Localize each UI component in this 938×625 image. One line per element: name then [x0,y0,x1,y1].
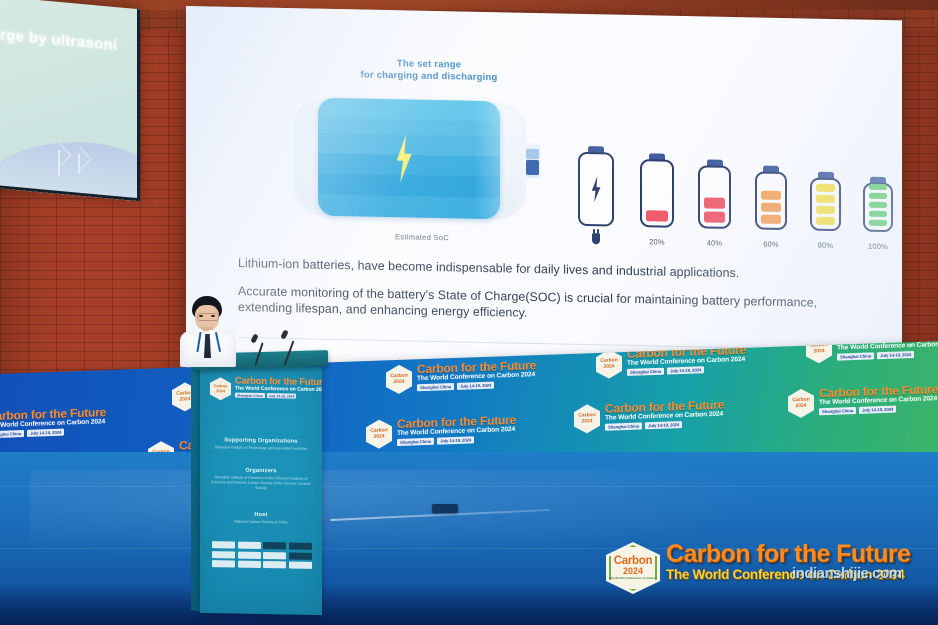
eye [211,315,215,317]
podium-section-supporting: Supporting Organizations Shanghai Instit… [200,437,322,452]
photo-scene: harge by ultrasoni The set range for cha… [0,0,938,625]
battery-segment [869,202,887,208]
logo-text: Carbon 2024 [369,422,389,446]
battery-segment [816,206,835,214]
charging-bolt-icon [590,176,603,202]
left-screen-title: harge by ultrasoni [0,25,140,58]
banner-chip-location: Shanghai China [417,383,454,391]
ceiling-band [0,0,938,10]
floor-seam [0,486,938,487]
carbon-logo-icon: Carbon 2024 [596,349,622,379]
banner-chip-location: Shanghai China [819,407,856,415]
carbon-hex-logo-icon: Carbon 2024 The World Conference on Carb… [606,542,660,594]
banner-chip-date: July 14-19, 2024 [437,436,474,444]
battery-body [810,178,841,232]
sponsor-logo [263,561,286,568]
watermark-logo: Carbon 2024 The World Conference on Carb… [606,540,932,596]
battery-body [698,165,731,229]
mic-head [250,333,258,343]
battery-segment [704,197,725,208]
battery-segment [816,184,835,192]
banner-chip-date: July 14-19, 2024 [645,421,682,429]
sponsor-logo [212,560,235,567]
battery-icon-60: 60% [755,171,787,230]
battery-segment [816,195,835,203]
sponsor-logo [289,552,312,559]
logo-text: Carbon 2024 [389,368,409,392]
set-range-line2: for charging and discharging [354,69,504,84]
microphone-right [262,326,296,366]
mic-stem [284,341,294,366]
logo-text: Carbon 2024 [791,392,811,416]
banner-chip-location: Shanghai China [837,352,874,360]
battery-percent-label: 80% [818,241,834,250]
battery-segment [869,184,887,190]
section-title: Supporting Organizations [200,437,322,445]
logo-line-2: 2024 [623,567,643,576]
logo-text: Carbon 2024 [577,407,597,431]
sponsor-logo-grid [208,541,316,569]
section-title: Host [200,511,322,519]
banner-chip-date: July 14-19, 2024 [859,406,896,414]
cable-connector [432,504,458,513]
podium-chip-date: July 14-19, 2024 [267,393,297,399]
battery-icon-100: 100% [863,183,893,233]
banner-chip-date: July 14-19, 2024 [27,429,64,437]
wind-turbine-icon [58,150,60,176]
banner-chips: Shanghai ChinaJuly 14-19, 2024 [397,436,474,446]
section-body: Shanghai Institute of Technology, and as… [200,445,322,452]
battery-segment [646,210,668,221]
sponsor-logo [212,541,235,548]
large-battery-illustration [296,94,548,225]
banner-chips: Shanghai ChinaJuly 14-19, 2024 [837,351,914,361]
battery-segment [761,203,781,212]
podium-header-chips: Shanghai China July 14-19, 2024 [235,393,296,399]
carbon-logo-icon: Carbon 2024 [366,419,392,449]
soc-battery-row: 20% 40% 60% [578,106,888,262]
slide-paragraph-2: Accurate monitoring of the battery's Sta… [238,283,858,328]
battery-percent-label: 20% [649,237,665,246]
banner-chips: Shanghai ChinaJuly 14-19, 2024 [0,429,64,439]
eye [199,315,203,317]
sponsor-logo [289,561,312,568]
banner-chip-location: Shanghai China [627,368,664,376]
battery-percent-label: 40% [707,238,723,247]
banner-chip-date: July 14-19, 2024 [877,351,914,359]
banner-chips: Shanghai ChinaJuly 14-19, 2024 [417,382,494,392]
banner-tile: Carbon 2024 Carbon for the Future The Wo… [0,403,148,410]
speaker-podium: Carbon 2024 Carbon for the Future The Wo… [196,352,326,614]
secondary-projection-screen: harge by ultrasoni [0,0,140,201]
battery-icon-40: 40% [698,165,731,229]
sponsor-logo [212,551,235,558]
carbon-logo-icon: Carbon 2024 [574,404,600,434]
banner-chip-location: Shanghai China [605,422,642,430]
banner-chip-date: July 14-19, 2024 [457,382,494,390]
banner-chip-date: July 14-19, 2024 [667,366,704,374]
estimated-soc-label: Estimated SoC [296,230,548,244]
sponsor-logo [238,551,261,558]
carbon-logo-icon: Carbon 2024 [210,377,231,400]
logo-line-3: The World Conference on Carbon [609,577,657,580]
sponsor-logo [238,561,261,568]
battery-percent-label: 100% [868,242,888,251]
banner-chip-location: Shanghai China [397,438,434,446]
section-body: National Carbon Society of China [200,519,322,526]
podium-section-host: Host National Carbon Society of China [200,511,322,526]
battery-segment [761,215,781,224]
podium-header: Carbon 2024 Carbon for the Future The Wo… [210,375,316,405]
podium-chip-location: Shanghai China [235,393,265,399]
mic-head [280,329,289,339]
logo-text: Carbon 2024 [599,352,619,376]
battery-body [578,152,614,227]
battery-body [640,159,674,228]
battery-body [755,171,787,230]
battery-icon-0 [578,152,614,227]
plug-icon [592,233,600,244]
watermark-site: indianshijie.com [792,565,902,582]
section-title: Organizers [200,467,322,475]
battery-icon-20: 20% [640,159,674,228]
set-range-caption: The set range for charging and dischargi… [354,57,504,84]
battery-segment [869,193,887,199]
banner-chip-location: Shanghai China [0,430,24,438]
battery-body [863,183,893,233]
podium-section-organizers: Organizers Shanghai Institute of Ceramic… [200,467,322,492]
carbon-logo-icon: Carbon 2024 [788,388,814,418]
battery-segment [704,211,725,222]
stage-floor [0,452,938,625]
sponsor-logo [263,542,286,549]
battery-percent-label: 60% [763,240,779,249]
logo-text: Carbon 2024 [212,379,229,398]
banner-chips: Shanghai ChinaJuly 14-19, 2024 [819,406,896,416]
battery-segment [869,220,887,226]
carbon-logo-icon: Carbon 2024 [386,364,412,394]
sponsor-logo [238,542,261,549]
slide-body-text: Lithium-ion batteries, have become indis… [238,255,858,328]
banner-tile: Carbon 2024 Carbon for the Future The Wo… [574,395,766,402]
sponsor-logo [263,552,286,559]
battery-icon-80: 80% [810,178,841,232]
hex-inner: Carbon 2024 The World Conference on Carb… [609,545,657,591]
sponsor-logo [289,542,312,549]
banner-chips: Shanghai ChinaJuly 14-19, 2024 [627,366,704,376]
battery-segment [761,191,781,200]
battery-terminal-cap [524,143,541,179]
banner-chips: Shanghai ChinaJuly 14-19, 2024 [605,421,682,431]
battery-segment [869,211,887,217]
wind-turbine-icon [78,154,80,174]
podium-front-panel: Carbon 2024 Carbon for the Future The Wo… [200,365,322,615]
battery-segment [816,217,835,225]
section-body: Shanghai Institute of Ceramics of the Ch… [200,475,322,492]
banner-tile: Carbon 2024 Carbon for the Future The Wo… [788,380,938,387]
banner-tile: Carbon 2024 Carbon for the Future The Wo… [366,410,558,417]
